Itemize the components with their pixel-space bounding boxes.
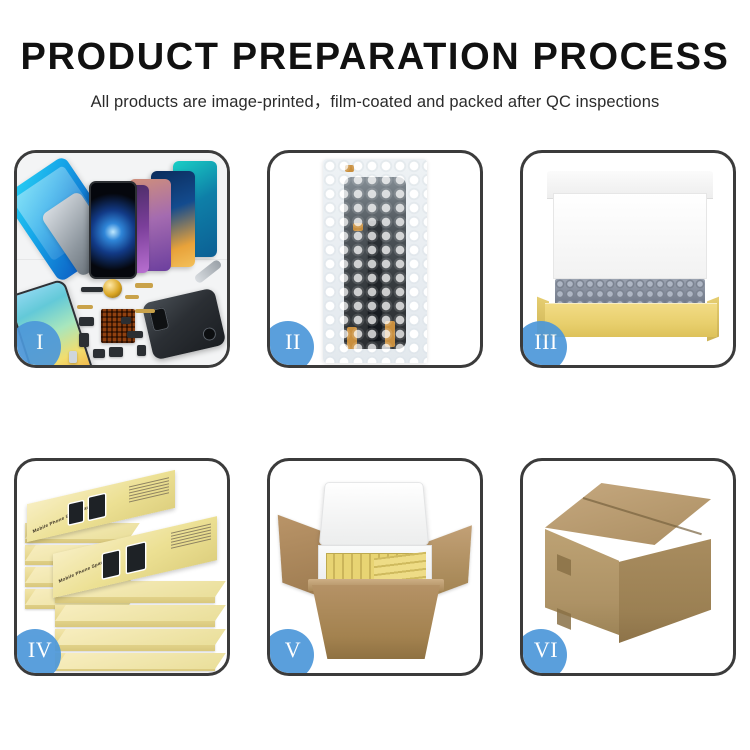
page-header: PRODUCT PREPARATION PROCESS All products… [0,0,750,112]
gold-round-component-icon [103,279,122,298]
step-badge-6-label: VI [534,639,558,661]
chip-icon [93,349,105,358]
flex-cable-icon [77,305,93,309]
box-label-phone-image [127,543,145,573]
sim-tray-icon [69,351,77,363]
box-inner-wall-icon [553,193,707,279]
process-step-panel-5: V [267,458,483,676]
bubble-texture-overlay [323,159,427,363]
process-step-grid: I II III [14,150,736,676]
chip-icon [109,347,123,357]
chip-icon [79,333,89,347]
box-label-phone-image [103,551,119,579]
box-label-phone-image [89,494,105,520]
process-step-panel-2: II [267,150,483,368]
chip-icon [137,345,146,356]
box-label-lines [171,523,211,550]
process-step-panel-6: VI [520,458,736,676]
flex-cable-icon [135,283,153,288]
step-badge-5-label: V [285,639,301,661]
process-step-panel-3: III [520,150,736,368]
foam-lid-icon [319,482,429,546]
carton-top-face-icon [545,483,711,545]
step-badge-3-label: III [534,331,557,353]
flex-cable-icon [135,309,155,313]
flex-cable-icon [125,295,139,299]
bubble-wrap-sleeve-icon [323,159,427,363]
phone-fan-group [89,159,227,271]
stacked-box [55,605,215,627]
process-step-panel-4: Mobile Phone Spare Parts Mobile Phone Sp… [14,458,230,676]
chip-icon [79,317,94,326]
phone-back-cover-icon [141,287,226,360]
page-subtitle: All products are image-printed，film-coat… [0,88,750,112]
box-front-panel-icon [545,303,717,337]
chip-icon [81,287,103,292]
chip-icon [121,317,131,324]
bubble-wrap-layer-icon [555,279,705,305]
page-title: PRODUCT PREPARATION PROCESS [0,38,750,78]
box-label-phone-image [69,501,83,524]
process-step-panel-1: I [14,150,230,368]
step-badge-1-label: I [36,331,44,353]
stacked-box [55,653,215,671]
box-label-lines [129,477,169,504]
chip-icon [127,331,143,338]
stacked-box [55,629,215,651]
carton-right-face-icon [619,539,711,643]
tweezers-icon [193,259,222,285]
carton-body-icon [312,585,440,659]
step-badge-4-label: IV [28,639,52,661]
step-badge-2-label: II [285,331,301,353]
